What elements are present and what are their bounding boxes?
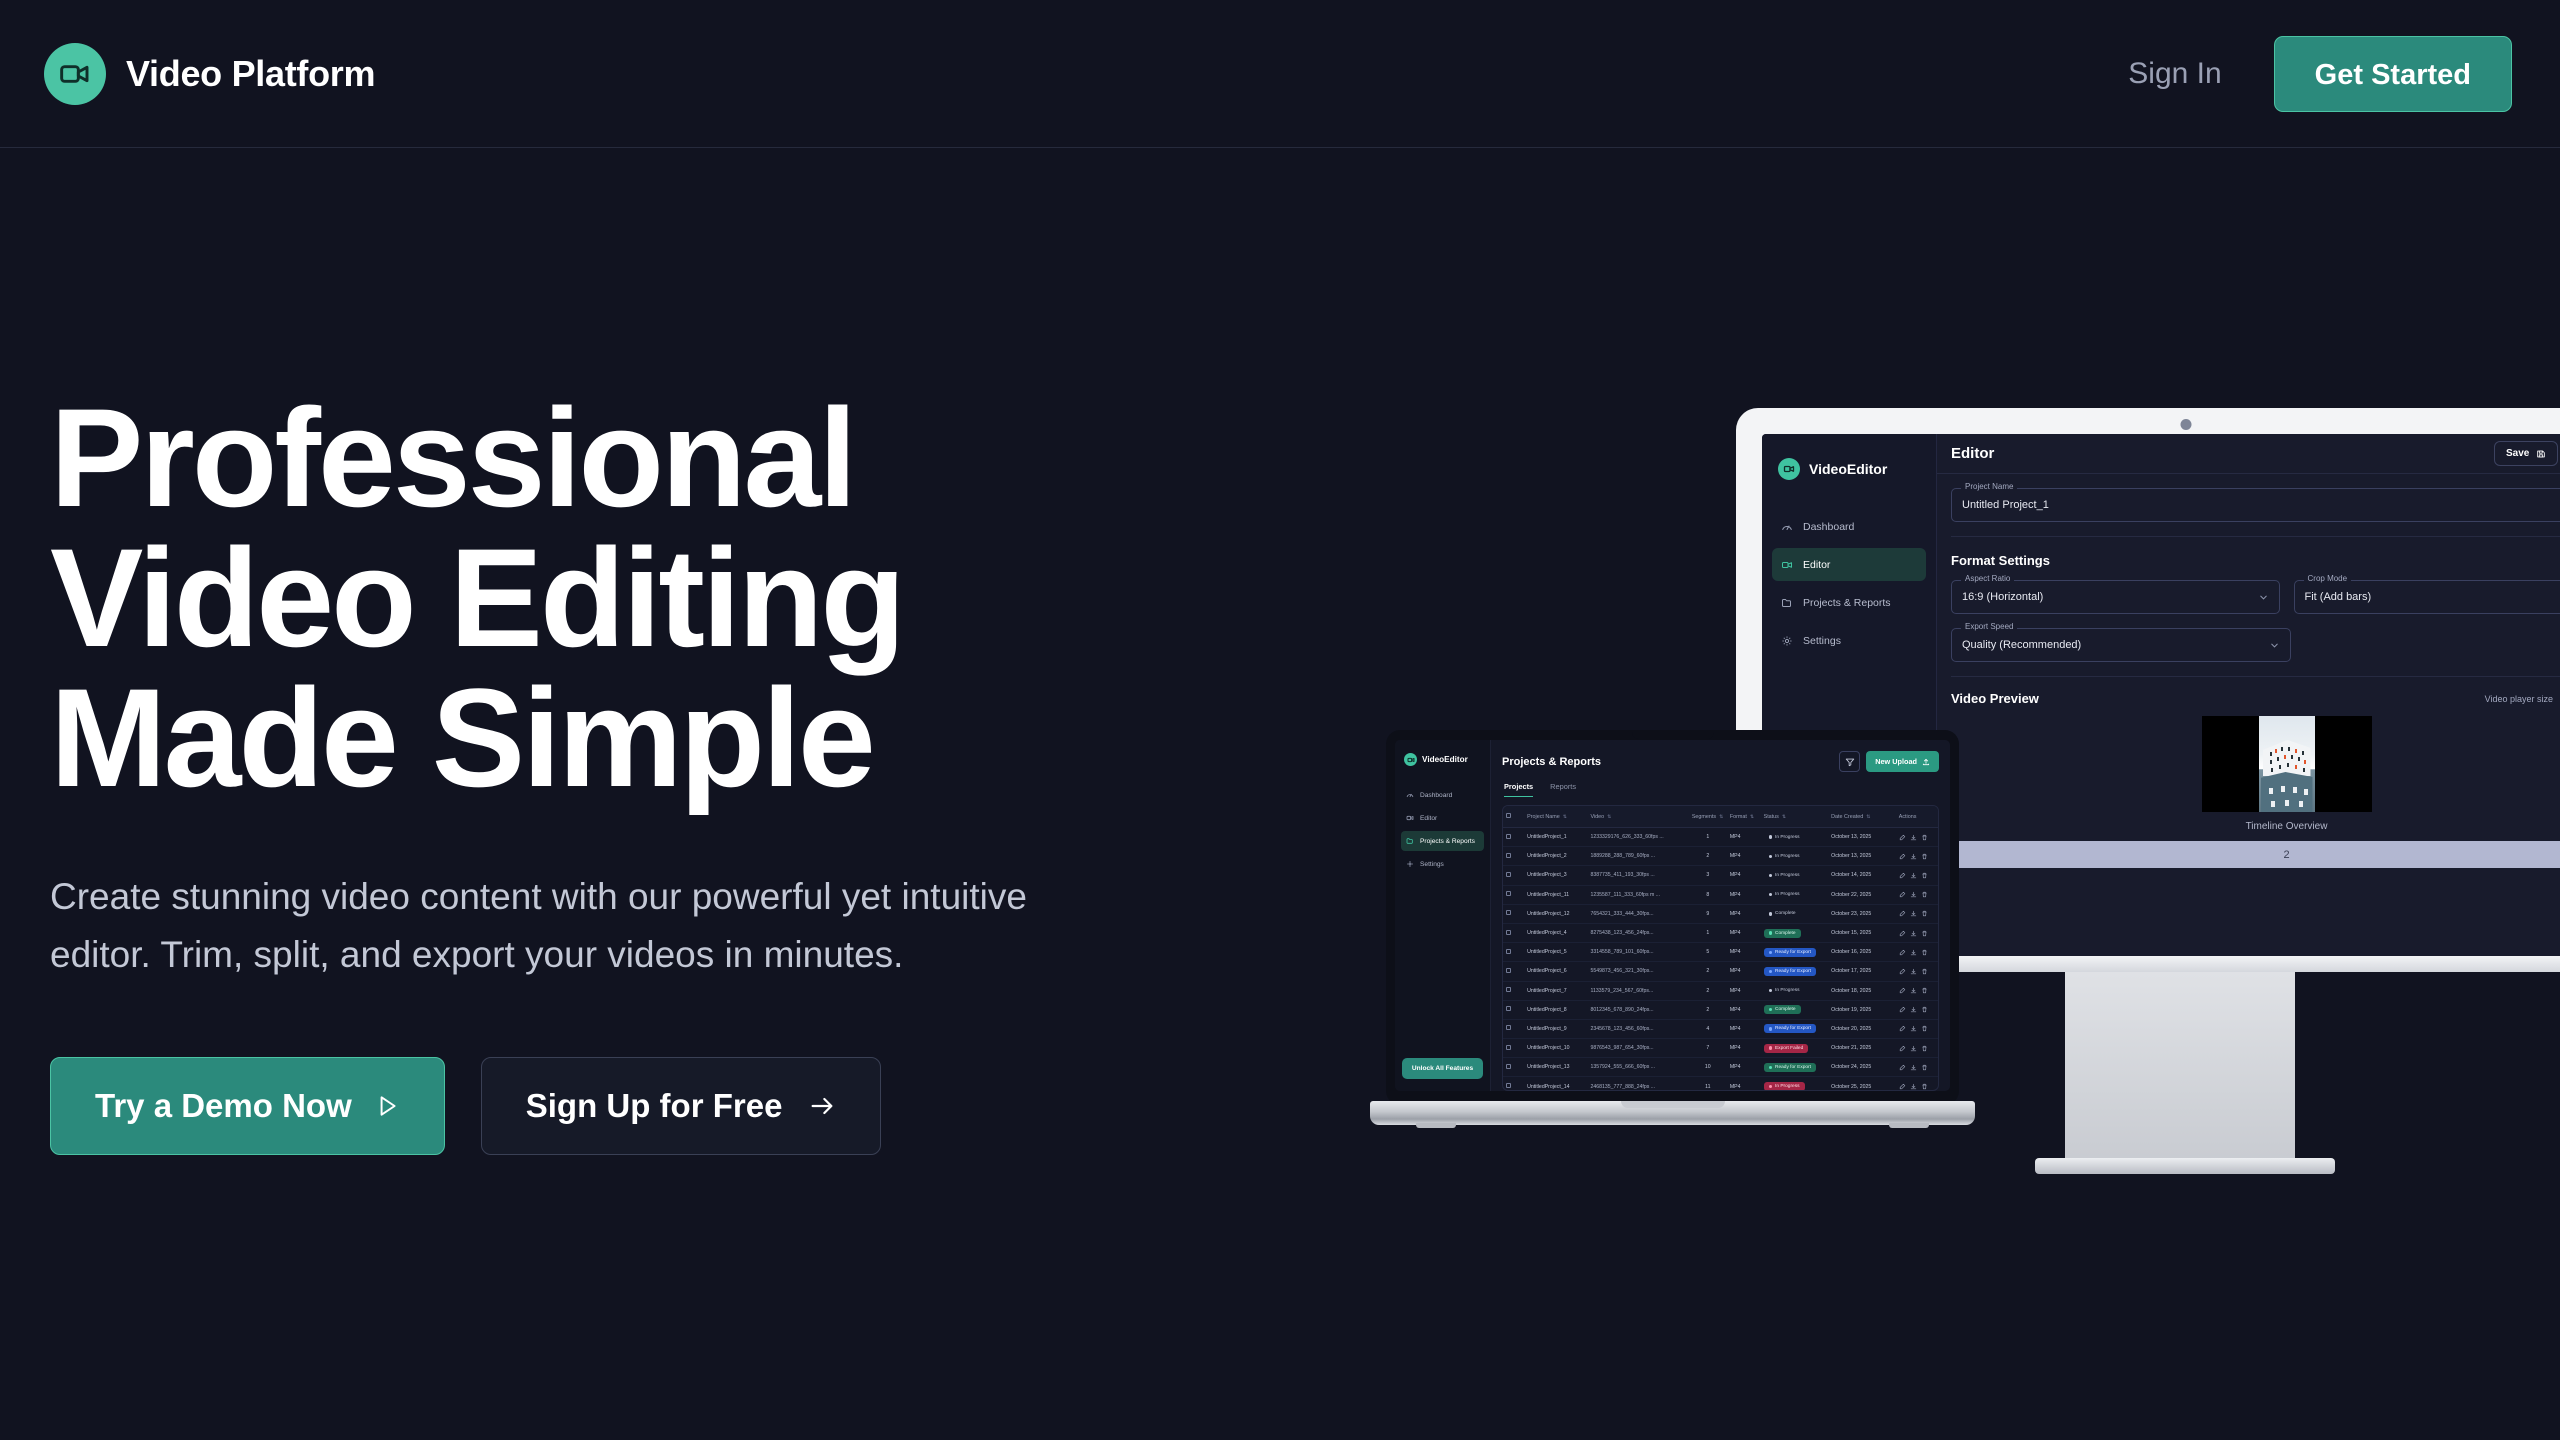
cell-status: In Progress (1761, 885, 1829, 904)
row-checkbox[interactable] (1503, 885, 1524, 904)
player-size-label: Video player size (2485, 694, 2553, 704)
cell-segments: 10 (1689, 1058, 1727, 1077)
edit-icon[interactable] (1899, 968, 1906, 975)
new-upload-label: New Upload (1875, 757, 1917, 766)
cell-video: 2345678_123_456_60fps... (1587, 1019, 1688, 1038)
checkbox-icon[interactable] (1506, 968, 1511, 973)
checkbox-icon[interactable] (1506, 834, 1511, 839)
download-icon[interactable] (1910, 930, 1917, 937)
delete-icon[interactable] (1921, 834, 1928, 841)
player-size-control[interactable]: Video player size (2485, 694, 2560, 704)
crop-mode-value: Fit (Add bars) (2305, 591, 2372, 603)
sidebar-item-label: Dashboard (1803, 521, 1854, 533)
edit-icon[interactable] (1899, 872, 1906, 879)
table-row[interactable]: UntitledProject_53314558_789_101_60fps..… (1503, 943, 1938, 962)
edit-icon[interactable] (1899, 891, 1906, 898)
cell-project-name: UntitledProject_12 (1524, 904, 1587, 923)
select-all-header[interactable] (1503, 806, 1524, 828)
checkbox-icon[interactable] (1506, 891, 1511, 896)
cell-status: Ready for Export (1761, 962, 1829, 981)
row-checkbox[interactable] (1503, 962, 1524, 981)
col-format[interactable]: Format⇅ (1727, 806, 1761, 828)
site-header: Video Platform Sign In Get Started (0, 0, 2560, 148)
status-badge: In Progress (1764, 871, 1805, 880)
sort-icon: ⇅ (1782, 814, 1786, 820)
cell-status: Ready for Export (1761, 1019, 1829, 1038)
cell-project-name: UntitledProject_2 (1524, 847, 1587, 866)
video-camera-icon (1780, 558, 1793, 571)
table-body: UntitledProject_11233329176_626_333_60fp… (1503, 828, 1938, 1092)
hero-cta-group: Try a Demo Now Sign Up for Free (50, 1057, 1200, 1155)
folder-icon (1406, 837, 1414, 845)
upload-icon (1922, 758, 1930, 766)
save-button[interactable]: Save (2494, 441, 2558, 466)
cell-video: 1357924_555_666_60fps ... (1587, 1058, 1688, 1077)
table-row[interactable]: UntitledProject_111235587_111_333_60fps … (1503, 885, 1938, 904)
play-triangle-icon (374, 1093, 400, 1119)
laptop-page-title: Projects & Reports (1502, 756, 1601, 768)
row-checkbox[interactable] (1503, 1019, 1524, 1038)
cell-actions (1896, 923, 1938, 942)
projects-table: Project Name⇅ Video⇅ Segments⇅ Format⇅ S… (1503, 806, 1938, 1091)
checkbox-icon[interactable] (1506, 813, 1511, 818)
checkbox-icon[interactable] (1506, 949, 1511, 954)
laptop-lid: VideoEditor Dashboard Editor (1386, 730, 1959, 1105)
sidebar-item-label: Editor (1420, 815, 1437, 822)
format-settings-row-1: Aspect Ratio 16:9 (Horizontal) Crop Mode… (1951, 580, 2560, 614)
crop-mode-label: Crop Mode (2304, 574, 2352, 583)
download-icon[interactable] (1910, 853, 1917, 860)
table-row[interactable]: UntitledProject_131357924_555_666_60fps … (1503, 1058, 1938, 1077)
col-actions: Actions (1896, 806, 1938, 828)
cell-project-name: UntitledProject_9 (1524, 1019, 1587, 1038)
tab-reports[interactable]: Reports (1550, 782, 1576, 797)
cell-video: 1133579_234_567_60fps... (1587, 981, 1688, 1000)
cell-date-created: October 22, 2025 (1828, 885, 1896, 904)
video-player-preview[interactable] (2202, 716, 2372, 812)
laptop-notch (1632, 730, 1714, 739)
checkbox-icon[interactable] (1506, 1083, 1511, 1088)
sidebar-item-projects-reports[interactable]: Projects & Reports (1401, 831, 1484, 851)
sort-icon: ⇅ (1719, 814, 1723, 820)
edit-icon[interactable] (1899, 910, 1906, 917)
sidebar-item-label: Editor (1803, 559, 1830, 571)
project-name-field[interactable]: Project Name Untitled Project_1 (1951, 488, 2560, 522)
divider (1951, 676, 2560, 677)
row-checkbox[interactable] (1503, 847, 1524, 866)
sidebar-item-editor[interactable]: Editor (1772, 548, 1926, 581)
arrow-right-icon (808, 1092, 836, 1120)
cell-actions (1896, 943, 1938, 962)
checkbox-icon[interactable] (1506, 1064, 1511, 1069)
new-upload-button[interactable]: New Upload (1866, 751, 1939, 772)
preview-building-photo (2259, 716, 2315, 812)
checkbox-icon[interactable] (1506, 987, 1511, 992)
checkbox-icon[interactable] (1506, 930, 1511, 935)
unlock-all-features-button[interactable]: Unlock All Features (1402, 1058, 1483, 1079)
brand[interactable]: Video Platform (44, 43, 375, 105)
table-row[interactable]: UntitledProject_109876543_987_654_30fps.… (1503, 1039, 1938, 1058)
format-settings-row-2: Export Speed Quality (Recommended) (1951, 628, 2560, 662)
row-checkbox[interactable] (1503, 981, 1524, 1000)
cell-format: MP4 (1727, 904, 1761, 923)
cell-format: MP4 (1727, 1039, 1761, 1058)
cell-project-name: UntitledProject_10 (1524, 1039, 1587, 1058)
edit-icon[interactable] (1899, 1083, 1906, 1090)
cell-date-created: October 23, 2025 (1828, 904, 1896, 923)
col-status[interactable]: Status⇅ (1761, 806, 1829, 828)
laptop-brand: VideoEditor (1395, 753, 1490, 766)
laptop-page-header: Projects & Reports New Upload (1502, 751, 1939, 772)
cell-project-name: UntitledProject_8 (1524, 1000, 1587, 1019)
row-checkbox[interactable] (1503, 923, 1524, 942)
sort-icon: ⇅ (1750, 814, 1754, 820)
cell-video: 2468135_777_888_24fps ... (1587, 1077, 1688, 1091)
filter-icon[interactable] (1839, 751, 1860, 772)
status-badge: In Progress (1764, 833, 1805, 842)
save-label: Save (2506, 448, 2529, 459)
laptop-header-actions: New Upload (1839, 751, 1939, 772)
cell-actions (1896, 1077, 1938, 1091)
cell-segments: 2 (1689, 962, 1727, 981)
cell-date-created: October 24, 2025 (1828, 1058, 1896, 1077)
building-lower (2261, 772, 2313, 812)
checkbox-icon[interactable] (1506, 1025, 1511, 1030)
row-checkbox[interactable] (1503, 866, 1524, 885)
gauge-icon (1406, 791, 1414, 799)
download-icon[interactable] (1910, 1006, 1917, 1013)
checkbox-icon[interactable] (1506, 1006, 1511, 1011)
download-icon[interactable] (1910, 1025, 1917, 1032)
gear-icon (1406, 860, 1414, 868)
delete-icon[interactable] (1921, 910, 1928, 917)
sidebar-item-dashboard[interactable]: Dashboard (1772, 510, 1926, 543)
tab-projects[interactable]: Projects (1504, 782, 1533, 797)
table-header-row: Project Name⇅ Video⇅ Segments⇅ Format⇅ S… (1503, 806, 1938, 828)
laptop-screen: VideoEditor Dashboard Editor (1395, 740, 1950, 1091)
cell-format: MP4 (1727, 962, 1761, 981)
cell-status: In Progress (1761, 847, 1829, 866)
project-name-label: Project Name (1961, 482, 2017, 491)
edit-icon[interactable] (1899, 1006, 1906, 1013)
cell-project-name: UntitledProject_13 (1524, 1058, 1587, 1077)
cell-video: 1889288_288_789_60fps ... (1587, 847, 1688, 866)
table-row[interactable]: UntitledProject_11233329176_626_333_60fp… (1503, 828, 1938, 847)
timeline-value: 2 (2283, 849, 2289, 861)
delete-icon[interactable] (1921, 1006, 1928, 1013)
status-badge: Ready for Export (1764, 1063, 1816, 1072)
download-icon[interactable] (1910, 949, 1917, 956)
cell-status: Complete (1761, 1000, 1829, 1019)
delete-icon[interactable] (1921, 891, 1928, 898)
delete-icon[interactable] (1921, 1064, 1928, 1071)
edit-icon[interactable] (1899, 987, 1906, 994)
monitor-foot (2035, 1158, 2335, 1174)
cell-project-name: UntitledProject_1 (1524, 828, 1587, 847)
cell-actions (1896, 885, 1938, 904)
try-demo-button[interactable]: Try a Demo Now (50, 1057, 445, 1155)
sort-icon: ⇅ (1866, 814, 1870, 820)
table-row[interactable]: UntitledProject_65549873_456_321_30fps..… (1503, 962, 1938, 981)
table-row[interactable]: UntitledProject_48275438_123_456_24fps..… (1503, 923, 1938, 942)
cell-status: In Progress (1761, 981, 1829, 1000)
status-badge: Ready for Export (1764, 948, 1816, 957)
gauge-icon (1780, 520, 1793, 533)
cell-video: 9876543_987_654_30fps... (1587, 1039, 1688, 1058)
cell-segments: 4 (1689, 1019, 1727, 1038)
laptop-foot-left (1416, 1123, 1456, 1128)
download-icon[interactable] (1910, 1064, 1917, 1071)
edit-icon[interactable] (1899, 949, 1906, 956)
cell-project-name: UntitledProject_6 (1524, 962, 1587, 981)
aspect-ratio-select[interactable]: Aspect Ratio 16:9 (Horizontal) (1951, 580, 2280, 614)
table-row[interactable]: UntitledProject_127654321_333_444_30fps.… (1503, 904, 1938, 923)
checkbox-icon[interactable] (1506, 910, 1511, 915)
editor-page-title: Editor (1951, 445, 1994, 462)
cell-project-name: UntitledProject_3 (1524, 866, 1587, 885)
video-preview-title: Video Preview (1951, 691, 2039, 706)
video-camera-icon (44, 43, 106, 105)
download-icon[interactable] (1910, 872, 1917, 879)
cell-status: In Progress (1761, 1077, 1829, 1091)
download-icon[interactable] (1910, 1083, 1917, 1090)
sidebar-item-label: Dashboard (1420, 792, 1452, 799)
download-icon[interactable] (1910, 987, 1917, 994)
delete-icon[interactable] (1921, 968, 1928, 975)
status-badge: In Progress (1764, 1082, 1805, 1091)
cell-status: Ready for Export (1761, 1058, 1829, 1077)
cell-segments: 8 (1689, 885, 1727, 904)
cell-format: MP4 (1727, 885, 1761, 904)
cell-actions (1896, 828, 1938, 847)
edit-icon[interactable] (1899, 930, 1906, 937)
col-date-created[interactable]: Date Created⇅ (1828, 806, 1896, 828)
editor-nav: Dashboard Editor Projects & Reports (1762, 510, 1936, 657)
row-checkbox[interactable] (1503, 1039, 1524, 1058)
sidebar-item-label: Settings (1803, 635, 1841, 647)
sort-icon: ⇅ (1563, 814, 1567, 820)
cell-format: MP4 (1727, 1077, 1761, 1091)
sidebar-item-settings[interactable]: Settings (1772, 624, 1926, 657)
project-name-value: Untitled Project_1 (1962, 499, 2049, 511)
cell-date-created: October 25, 2025 (1828, 1077, 1896, 1091)
status-badge: Export Failed (1764, 1044, 1809, 1053)
cell-actions (1896, 866, 1938, 885)
table-row[interactable]: UntitledProject_88012345_678_890_24fps..… (1503, 1000, 1938, 1019)
status-badge: Ready for Export (1764, 1024, 1816, 1033)
cell-segments: 2 (1689, 1000, 1727, 1019)
download-icon[interactable] (1910, 891, 1917, 898)
floppy-disk-icon (2536, 449, 2546, 459)
chevron-down-icon (2258, 592, 2269, 603)
video-camera-icon (1778, 458, 1800, 480)
cell-video: 8012345_678_890_24fps... (1587, 1000, 1688, 1019)
video-preview-header: Video Preview Video player size (1951, 691, 2560, 706)
delete-icon[interactable] (1921, 1083, 1928, 1090)
cell-format: MP4 (1727, 866, 1761, 885)
header-actions: Sign In Get Started (2128, 36, 2512, 112)
timeline-bar[interactable]: 2 (1951, 841, 2560, 868)
cell-date-created: October 14, 2025 (1828, 866, 1896, 885)
hero-subtitle: Create stunning video content with our p… (50, 868, 1160, 985)
video-camera-icon (1404, 753, 1417, 766)
sidebar-item-editor[interactable]: Editor (1401, 808, 1484, 828)
monitor-camera-dot (2181, 419, 2192, 430)
cell-date-created: October 13, 2025 (1828, 828, 1896, 847)
edit-icon[interactable] (1899, 1045, 1906, 1052)
page-title: Professional Video Editing Made Simple (50, 388, 1200, 808)
building-upper (2263, 740, 2311, 776)
cell-segments: 3 (1689, 866, 1727, 885)
col-segments[interactable]: Segments⇅ (1689, 806, 1727, 828)
laptop-nav: Dashboard Editor Projects & Reports (1395, 785, 1490, 874)
editor-body: Project Name Untitled Project_1 Format S… (1937, 474, 2560, 968)
cell-actions (1896, 1019, 1938, 1038)
cell-format: MP4 (1727, 1019, 1761, 1038)
hero-section: Professional Video Editing Made Simple C… (0, 148, 1200, 1155)
status-badge: Complete (1764, 929, 1801, 938)
table-row[interactable]: UntitledProject_142468135_777_888_24fps … (1503, 1077, 1938, 1091)
edit-icon[interactable] (1899, 834, 1906, 841)
col-video[interactable]: Video⇅ (1587, 806, 1688, 828)
cell-actions (1896, 1000, 1938, 1019)
divider (1951, 536, 2560, 537)
download-icon[interactable] (1910, 1045, 1917, 1052)
sidebar-item-projects-reports[interactable]: Projects & Reports (1772, 586, 1926, 619)
status-badge: Complete (1764, 909, 1801, 918)
cell-actions (1896, 1058, 1938, 1077)
cell-format: MP4 (1727, 943, 1761, 962)
cell-segments: 11 (1689, 1077, 1727, 1091)
cell-status: Export Failed (1761, 1039, 1829, 1058)
checkbox-icon[interactable] (1506, 1045, 1511, 1050)
table-row[interactable]: UntitledProject_21889288_288_789_60fps .… (1503, 847, 1938, 866)
status-badge: Ready for Export (1764, 967, 1816, 976)
cell-project-name: UntitledProject_4 (1524, 923, 1587, 942)
edit-icon[interactable] (1899, 1025, 1906, 1032)
row-checkbox[interactable] (1503, 1058, 1524, 1077)
cell-date-created: October 19, 2025 (1828, 1000, 1896, 1019)
download-icon[interactable] (1910, 834, 1917, 841)
cell-format: MP4 (1727, 1058, 1761, 1077)
export-speed-value: Quality (Recommended) (1962, 639, 2081, 651)
cell-actions (1896, 962, 1938, 981)
delete-icon[interactable] (1921, 1025, 1928, 1032)
download-icon[interactable] (1910, 910, 1917, 917)
laptop-foot-right (1889, 1123, 1929, 1128)
cell-segments: 1 (1689, 828, 1727, 847)
col-project-name[interactable]: Project Name⇅ (1524, 806, 1587, 828)
cell-actions (1896, 1039, 1938, 1058)
delete-icon[interactable] (1921, 1045, 1928, 1052)
table-row[interactable]: UntitledProject_71133579_234_567_60fps..… (1503, 981, 1938, 1000)
delete-icon[interactable] (1921, 853, 1928, 860)
cell-segments: 2 (1689, 847, 1727, 866)
aspect-ratio-label: Aspect Ratio (1961, 574, 2014, 583)
cell-date-created: October 21, 2025 (1828, 1039, 1896, 1058)
delete-icon[interactable] (1921, 987, 1928, 994)
cell-segments: 9 (1689, 904, 1727, 923)
laptop-mockup: VideoEditor Dashboard Editor (1370, 730, 1975, 1130)
row-checkbox[interactable] (1503, 1000, 1524, 1019)
delete-icon[interactable] (1921, 930, 1928, 937)
sign-up-label: Sign Up for Free (526, 1087, 783, 1125)
cell-video: 1235587_111_333_60fps m ... (1587, 885, 1688, 904)
edit-icon[interactable] (1899, 853, 1906, 860)
cell-format: MP4 (1727, 1000, 1761, 1019)
sidebar-item-label: Projects & Reports (1420, 838, 1475, 845)
edit-icon[interactable] (1899, 1064, 1906, 1071)
aspect-ratio-value: 16:9 (Horizontal) (1962, 591, 2043, 603)
try-demo-label: Try a Demo Now (95, 1087, 352, 1125)
status-badge: In Progress (1764, 852, 1805, 861)
row-checkbox[interactable] (1503, 943, 1524, 962)
sidebar-item-dashboard[interactable]: Dashboard (1401, 785, 1484, 805)
cell-actions (1896, 847, 1938, 866)
table-header: Project Name⇅ Video⇅ Segments⇅ Format⇅ S… (1503, 806, 1938, 828)
cell-project-name: UntitledProject_14 (1524, 1077, 1587, 1091)
status-badge: In Progress (1764, 986, 1805, 995)
cell-date-created: October 13, 2025 (1828, 847, 1896, 866)
sign-up-free-button[interactable]: Sign Up for Free (481, 1057, 882, 1155)
sign-in-link[interactable]: Sign In (2128, 57, 2221, 91)
export-speed-select[interactable]: Export Speed Quality (Recommended) (1951, 628, 2291, 662)
editor-topbar: Editor Save Export (1937, 434, 2560, 474)
cell-date-created: October 20, 2025 (1828, 1019, 1896, 1038)
cell-video: 8275438_123_456_24fps... (1587, 923, 1688, 942)
export-speed-label: Export Speed (1961, 622, 2017, 631)
editor-brand: VideoEditor (1762, 458, 1936, 480)
get-started-button[interactable]: Get Started (2274, 36, 2512, 112)
editor-top-actions: Save Export (2494, 441, 2560, 466)
row-checkbox[interactable] (1503, 828, 1524, 847)
delete-icon[interactable] (1921, 949, 1928, 956)
checkbox-icon[interactable] (1506, 872, 1511, 877)
table-row[interactable]: UntitledProject_38387735_411_193_30fps .… (1503, 866, 1938, 885)
table-row[interactable]: UntitledProject_92345678_123_456_60fps..… (1503, 1019, 1938, 1038)
cell-project-name: UntitledProject_5 (1524, 943, 1587, 962)
checkbox-icon[interactable] (1506, 853, 1511, 858)
sort-icon: ⇅ (1607, 814, 1611, 820)
laptop-brand-name: VideoEditor (1422, 755, 1468, 764)
row-checkbox[interactable] (1503, 1077, 1524, 1091)
cell-format: MP4 (1727, 828, 1761, 847)
download-icon[interactable] (1910, 968, 1917, 975)
cell-segments: 5 (1689, 943, 1727, 962)
cell-date-created: October 17, 2025 (1828, 962, 1896, 981)
laptop-base (1370, 1101, 1975, 1125)
editor-main: Editor Save Export (1937, 434, 2560, 968)
sidebar-item-label: Settings (1420, 861, 1444, 868)
row-checkbox[interactable] (1503, 904, 1524, 923)
status-badge: Complete (1764, 1005, 1801, 1014)
cell-actions (1896, 981, 1938, 1000)
timeline-overview-label: Timeline Overview (1951, 821, 2560, 832)
cell-segments: 7 (1689, 1039, 1727, 1058)
cell-format: MP4 (1727, 923, 1761, 942)
sidebar-item-settings[interactable]: Settings (1401, 854, 1484, 874)
cell-status: Complete (1761, 904, 1829, 923)
cell-status: In Progress (1761, 828, 1829, 847)
monitor-stand (2065, 965, 2295, 1165)
format-settings-title: Format Settings (1951, 553, 2560, 568)
editor-brand-name: VideoEditor (1809, 461, 1887, 477)
crop-mode-select[interactable]: Crop Mode Fit (Add bars) (2294, 580, 2560, 614)
brand-name: Video Platform (126, 53, 375, 95)
delete-icon[interactable] (1921, 872, 1928, 879)
laptop-sidebar: VideoEditor Dashboard Editor (1395, 740, 1491, 1091)
cell-status: Ready for Export (1761, 943, 1829, 962)
